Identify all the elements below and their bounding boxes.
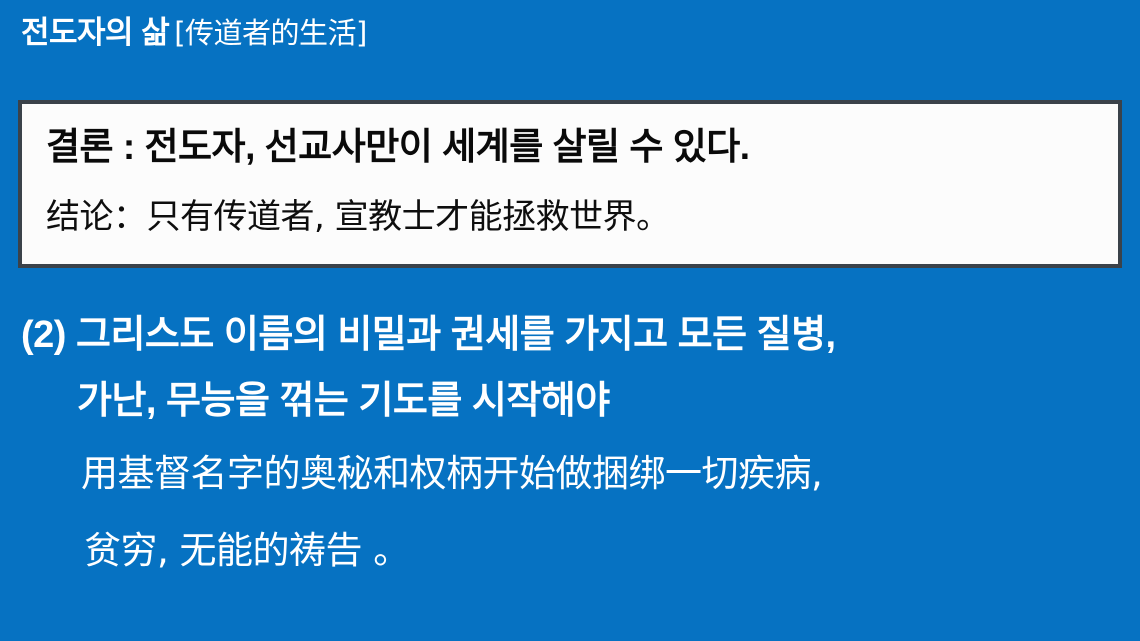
body-line-korean-1: (2) 그리스도 이름의 비밀과 권세를 가지고 모든 질병,: [21, 316, 836, 354]
slide-title-korean: 전도자의 삶: [21, 15, 169, 50]
conclusion-box: 결론 : 전도자, 선교사만이 세계를 살릴 수 있다. 结论：只有传道者, 宣…: [18, 100, 1122, 268]
body-line-korean-2: 가난, 무능을 꺾는 기도를 시작해야: [77, 382, 610, 420]
slide-title: 전도자의 삶[传道者的生活]: [21, 17, 367, 48]
slide-title-chinese: [传道者的生活]: [174, 16, 367, 50]
presentation-slide: 전도자의 삶[传道者的生活] 결론 : 전도자, 선교사만이 세계를 살릴 수 …: [0, 0, 1140, 641]
body-line-chinese-2: 贫穷, 无能的祷告 。: [84, 532, 410, 569]
conclusion-korean-line: 결론 : 전도자, 선교사만이 세계를 살릴 수 있다.: [46, 128, 750, 165]
body-line-chinese-1: 用基督名字的奥秘和权柄开始做捆绑一切疾病,: [81, 455, 822, 492]
conclusion-chinese-line: 结论：只有传道者, 宣教士才能拯救世界。: [46, 200, 670, 234]
